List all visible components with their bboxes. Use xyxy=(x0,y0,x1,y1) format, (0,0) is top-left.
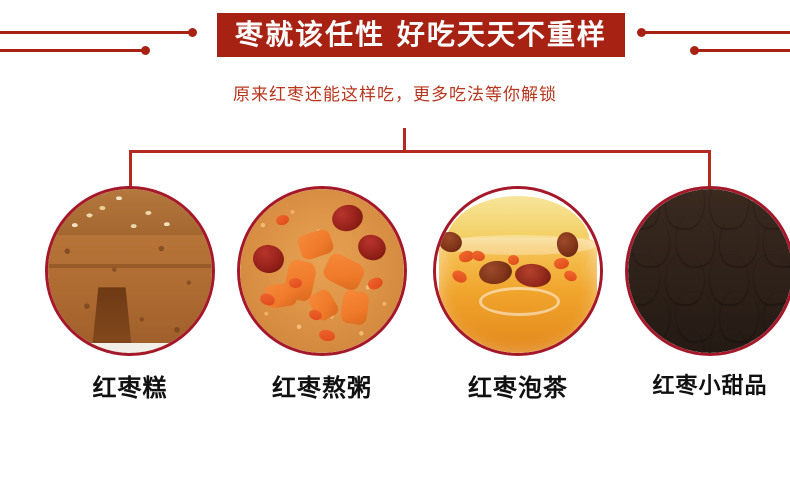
connector-horizontal xyxy=(129,150,711,153)
deco-dot-right-top xyxy=(637,28,646,37)
product-item-date-tea[interactable]: 红枣泡茶 xyxy=(433,186,603,403)
item-label-date-cake: 红枣糕 xyxy=(45,368,215,403)
item-label-date-porridge: 红枣熬粥 xyxy=(237,368,407,403)
stuffed-dates-dessert-photo xyxy=(625,186,790,356)
product-item-date-porridge[interactable]: 红枣熬粥 xyxy=(237,186,407,403)
banner-title-text: 枣就该任性 好吃天天不重样 xyxy=(235,21,607,49)
deco-line-right-top xyxy=(641,31,790,34)
item-label-date-tea: 红枣泡茶 xyxy=(433,368,603,403)
deco-dot-right-bottom xyxy=(690,46,699,55)
deco-dot-left-top xyxy=(188,28,197,37)
product-item-date-cake[interactable]: 红枣糕 xyxy=(45,186,215,403)
date-tea-glass-photo xyxy=(433,186,603,356)
deco-line-left-top xyxy=(0,31,193,34)
date-millet-porridge-photo xyxy=(237,186,407,356)
deco-dot-left-bottom xyxy=(141,46,150,55)
product-item-date-dessert[interactable]: 红枣小甜品 xyxy=(625,186,790,400)
banner-title-bar: 枣就该任性 好吃天天不重样 xyxy=(217,13,625,57)
promo-page: 枣就该任性 好吃天天不重样 原来红枣还能这样吃，更多吃法等你解锁 红枣糕 xyxy=(0,0,790,484)
deco-line-left-bottom xyxy=(0,49,146,52)
connector-stem xyxy=(403,128,406,152)
deco-line-right-bottom xyxy=(695,49,790,52)
item-label-date-dessert: 红枣小甜品 xyxy=(625,368,790,400)
page-subtitle: 原来红枣还能这样吃，更多吃法等你解锁 xyxy=(0,80,790,105)
date-cake-photo xyxy=(45,186,215,356)
